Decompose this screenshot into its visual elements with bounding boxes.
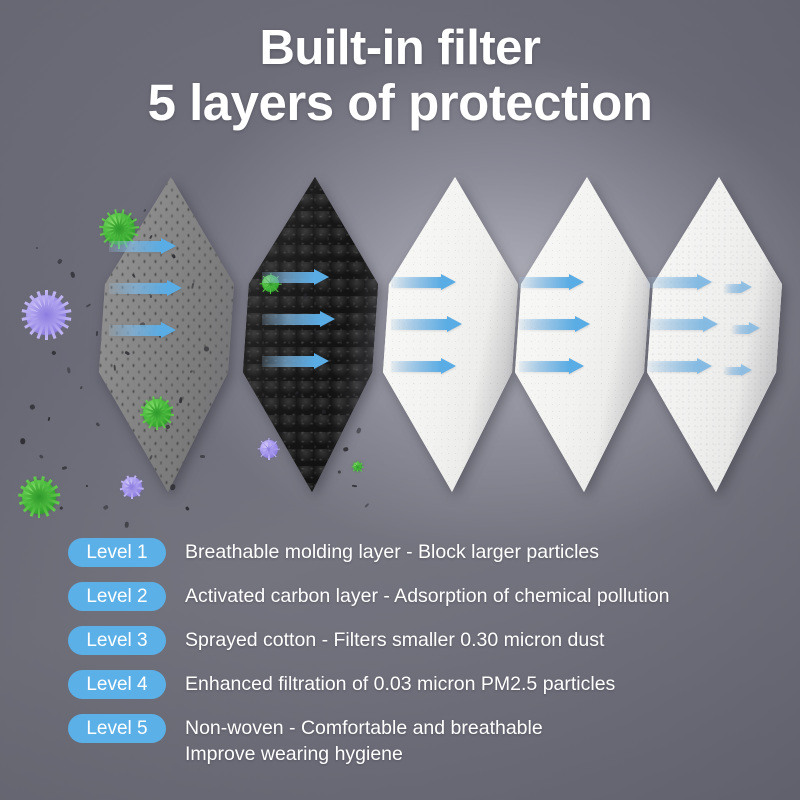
arrow-head xyxy=(167,280,182,296)
arrow-head xyxy=(161,238,176,254)
arrow-head xyxy=(441,358,456,374)
virus-particle-purple xyxy=(122,477,142,497)
arrow-shaft xyxy=(109,283,167,294)
level-legend-list: Level 1 Breathable molding layer - Block… xyxy=(68,536,798,756)
arrow-shaft xyxy=(262,314,320,325)
arrow-shaft xyxy=(731,325,749,334)
filter-layer-2-carbon xyxy=(228,177,378,492)
arrow-shaft xyxy=(519,361,569,372)
filter-layer-5-non-woven xyxy=(632,177,782,492)
arrow-head xyxy=(569,274,584,290)
filter-layer-3-sprayed-cotton xyxy=(368,177,518,492)
level-description-2: Activated carbon layer - Adsorption of c… xyxy=(185,580,670,609)
virus-particle-green xyxy=(353,462,362,471)
airflow-arrow xyxy=(723,281,731,294)
arrow-head xyxy=(741,281,752,293)
level-badge-1[interactable]: Level 1 xyxy=(68,538,166,567)
level-row-2: Level 2 Activated carbon layer - Adsorpt… xyxy=(68,580,798,624)
arrow-shaft xyxy=(262,272,314,283)
layer-5-surface xyxy=(632,177,782,492)
virus-particle-green xyxy=(143,399,171,427)
level-badge-4[interactable]: Level 4 xyxy=(68,670,166,699)
virus-particle-green xyxy=(22,480,56,514)
arrow-head xyxy=(441,274,456,290)
layer-3-surface xyxy=(368,177,518,492)
arrow-shaft xyxy=(109,241,161,252)
dust-speck xyxy=(48,417,51,421)
arrow-shaft xyxy=(723,284,741,293)
dust-speck xyxy=(57,258,63,264)
level-row-1: Level 1 Breathable molding layer - Block… xyxy=(68,536,798,580)
layer-4-surface xyxy=(500,177,650,492)
arrow-head xyxy=(314,269,329,285)
arrow-head xyxy=(314,353,329,369)
arrow-shaft xyxy=(391,361,441,372)
arrow-shaft xyxy=(647,277,697,288)
virus-particle-purple xyxy=(260,440,278,458)
airflow-arrow xyxy=(723,364,731,377)
dust-speck xyxy=(67,367,71,373)
layer-2-surface xyxy=(228,177,378,492)
level-badge-2[interactable]: Level 2 xyxy=(68,582,166,611)
arrow-shaft xyxy=(519,277,569,288)
level-badge-5[interactable]: Level 5 xyxy=(68,714,166,743)
airflow-arrows-exit xyxy=(723,281,731,405)
level-row-5: Level 5 Non-woven - Comfortable and brea… xyxy=(68,712,798,756)
virus-particle-purple xyxy=(26,295,66,335)
arrow-shaft xyxy=(519,319,575,330)
dust-speck xyxy=(29,404,35,410)
level-description-5: Non-woven - Comfortable and breathable I… xyxy=(185,712,543,767)
level-row-4: Level 4 Enhanced filtration of 0.03 micr… xyxy=(68,668,798,712)
dust-speck xyxy=(185,506,189,511)
arrow-shaft xyxy=(723,367,741,376)
dust-speck xyxy=(70,271,75,278)
dust-speck xyxy=(200,455,205,458)
dust-speck xyxy=(60,506,64,510)
arrow-head xyxy=(161,322,176,338)
dust-speck xyxy=(39,455,44,459)
filter-layer-4-enhanced xyxy=(500,177,650,492)
dust-speck xyxy=(103,504,109,510)
arrow-shaft xyxy=(262,356,314,367)
arrow-shaft xyxy=(647,361,697,372)
arrow-head xyxy=(741,364,752,376)
dust-speck xyxy=(51,350,56,355)
arrow-head xyxy=(575,316,590,332)
level-badge-3[interactable]: Level 3 xyxy=(68,626,166,655)
arrow-head xyxy=(320,311,335,327)
arrow-head xyxy=(447,316,462,332)
dust-speck xyxy=(36,247,38,249)
arrow-shaft xyxy=(391,277,441,288)
page-title: Built-in filter 5 layers of protection xyxy=(0,22,800,130)
arrow-head xyxy=(703,316,718,332)
title-line-1: Built-in filter xyxy=(0,22,800,75)
arrow-head xyxy=(569,358,584,374)
level-description-3: Sprayed cotton - Filters smaller 0.30 mi… xyxy=(185,624,604,653)
arrow-shaft xyxy=(109,325,161,336)
dust-speck xyxy=(62,466,68,470)
level-row-3: Level 3 Sprayed cotton - Filters smaller… xyxy=(68,624,798,668)
level-description-4: Enhanced filtration of 0.03 micron PM2.5… xyxy=(185,668,615,697)
arrow-head xyxy=(749,322,760,334)
arrow-shaft xyxy=(647,319,703,330)
arrow-head xyxy=(697,274,712,290)
dust-speck xyxy=(80,386,83,389)
dust-speck xyxy=(365,503,370,508)
title-line-2: 5 layers of protection xyxy=(0,75,800,130)
arrow-head xyxy=(697,358,712,374)
filter-layers-illustration xyxy=(0,155,800,515)
level-description-1: Breathable molding layer - Block larger … xyxy=(185,536,599,565)
arrow-shaft xyxy=(391,319,447,330)
dust-speck xyxy=(21,438,26,444)
